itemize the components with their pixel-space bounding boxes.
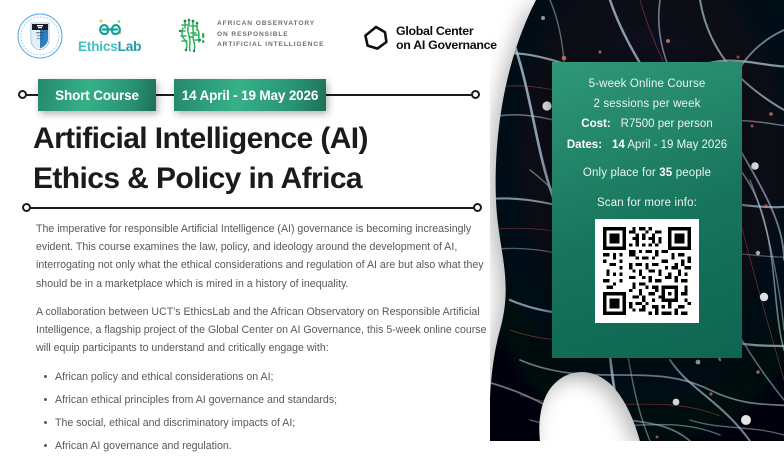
title-divider-dot-right	[473, 203, 482, 212]
uct-crest-logo	[16, 12, 64, 60]
gcaig-line-2: on AI Governance	[396, 38, 497, 52]
ethicslab-logo: EthicsLab	[78, 18, 141, 54]
card-dates-rest: April - 19 May 2026	[625, 139, 727, 151]
page-title-line-2: Ethics & Policy in Africa	[33, 159, 483, 199]
aorai-line-1: AFRICAN OBSERVATORY	[217, 19, 324, 30]
title-divider-dot-left	[22, 203, 31, 212]
badge-dates: 14 April - 19 May 2026	[174, 79, 326, 111]
gcaig-line-1: Global Center	[396, 24, 497, 38]
course-info-card: 5-week Online Course 2 sessions per week…	[552, 62, 742, 358]
card-capacity: Only place for 35 people	[552, 167, 742, 179]
card-cost-value: R7500 per person	[621, 118, 713, 130]
african-observatory-wordmark: AFRICAN OBSERVATORY ON RESPONSIBLE ARTIF…	[217, 19, 324, 51]
page-title: Artificial Intelligence (AI) Ethics & Po…	[33, 119, 483, 199]
global-center-logo: Global Center on AI Governance	[363, 24, 497, 52]
aorai-line-3: ARTIFICIAL INTELLIGENCE	[217, 40, 324, 51]
list-item: African ethical principles from AI gover…	[55, 391, 494, 409]
card-dates-label: Dates:	[567, 139, 602, 151]
circuit-brain-icon	[173, 17, 209, 53]
african-observatory-logo: AFRICAN OBSERVATORY ON RESPONSIBLE ARTIF…	[173, 17, 324, 53]
badge-course-type: Short Course	[38, 79, 156, 111]
title-divider	[22, 201, 482, 215]
qr-code[interactable]	[595, 219, 699, 323]
learning-outcomes-list: African policy and ethical consideration…	[36, 368, 494, 456]
card-capacity-number: 35	[659, 167, 672, 179]
description-paragraph-1: The imperative for responsible Artificia…	[36, 220, 494, 293]
card-dates-value: 14 April - 19 May 2026	[612, 139, 727, 151]
card-frequency: 2 sessions per week	[552, 98, 742, 110]
list-item: African policy and ethical consideration…	[55, 368, 494, 386]
hexagon-icon	[363, 25, 389, 51]
page-title-line-1: Artificial Intelligence (AI)	[33, 119, 483, 159]
ethicslab-mark	[97, 18, 123, 38]
course-meta-timeline: Short Course 14 April - 19 May 2026	[18, 79, 480, 111]
card-cost-label: Cost:	[581, 118, 610, 130]
card-scan-label: Scan for more info:	[552, 197, 742, 209]
list-item: The social, ethical and discriminatory i…	[55, 414, 494, 432]
timeline-dot-right	[471, 90, 480, 99]
ethicslab-word-b: Lab	[118, 39, 142, 54]
card-dates-row: Dates: 14 April - 19 May 2026	[552, 139, 742, 151]
card-cost-row: Cost: R7500 per person	[552, 118, 742, 130]
ethicslab-wordmark: EthicsLab	[78, 39, 141, 54]
card-capacity-suffix: people	[672, 167, 711, 179]
course-description: The imperative for responsible Artificia…	[36, 220, 494, 460]
global-center-wordmark: Global Center on AI Governance	[396, 24, 497, 52]
description-paragraph-2: A collaboration between UCT's EthicsLab …	[36, 303, 494, 358]
card-dates-day: 14	[612, 139, 625, 151]
title-divider-rule	[27, 207, 477, 209]
partner-logo-bar: EthicsLab AFRICAN	[0, 0, 500, 70]
card-duration: 5-week Online Course	[552, 78, 742, 90]
ethicslab-word-a: Ethics	[78, 39, 118, 54]
card-capacity-prefix: Only place for	[583, 167, 659, 179]
list-item: African AI governance and regulation.	[55, 437, 494, 455]
timeline-dot-left	[18, 90, 27, 99]
aorai-line-2: ON RESPONSIBLE	[217, 30, 324, 41]
